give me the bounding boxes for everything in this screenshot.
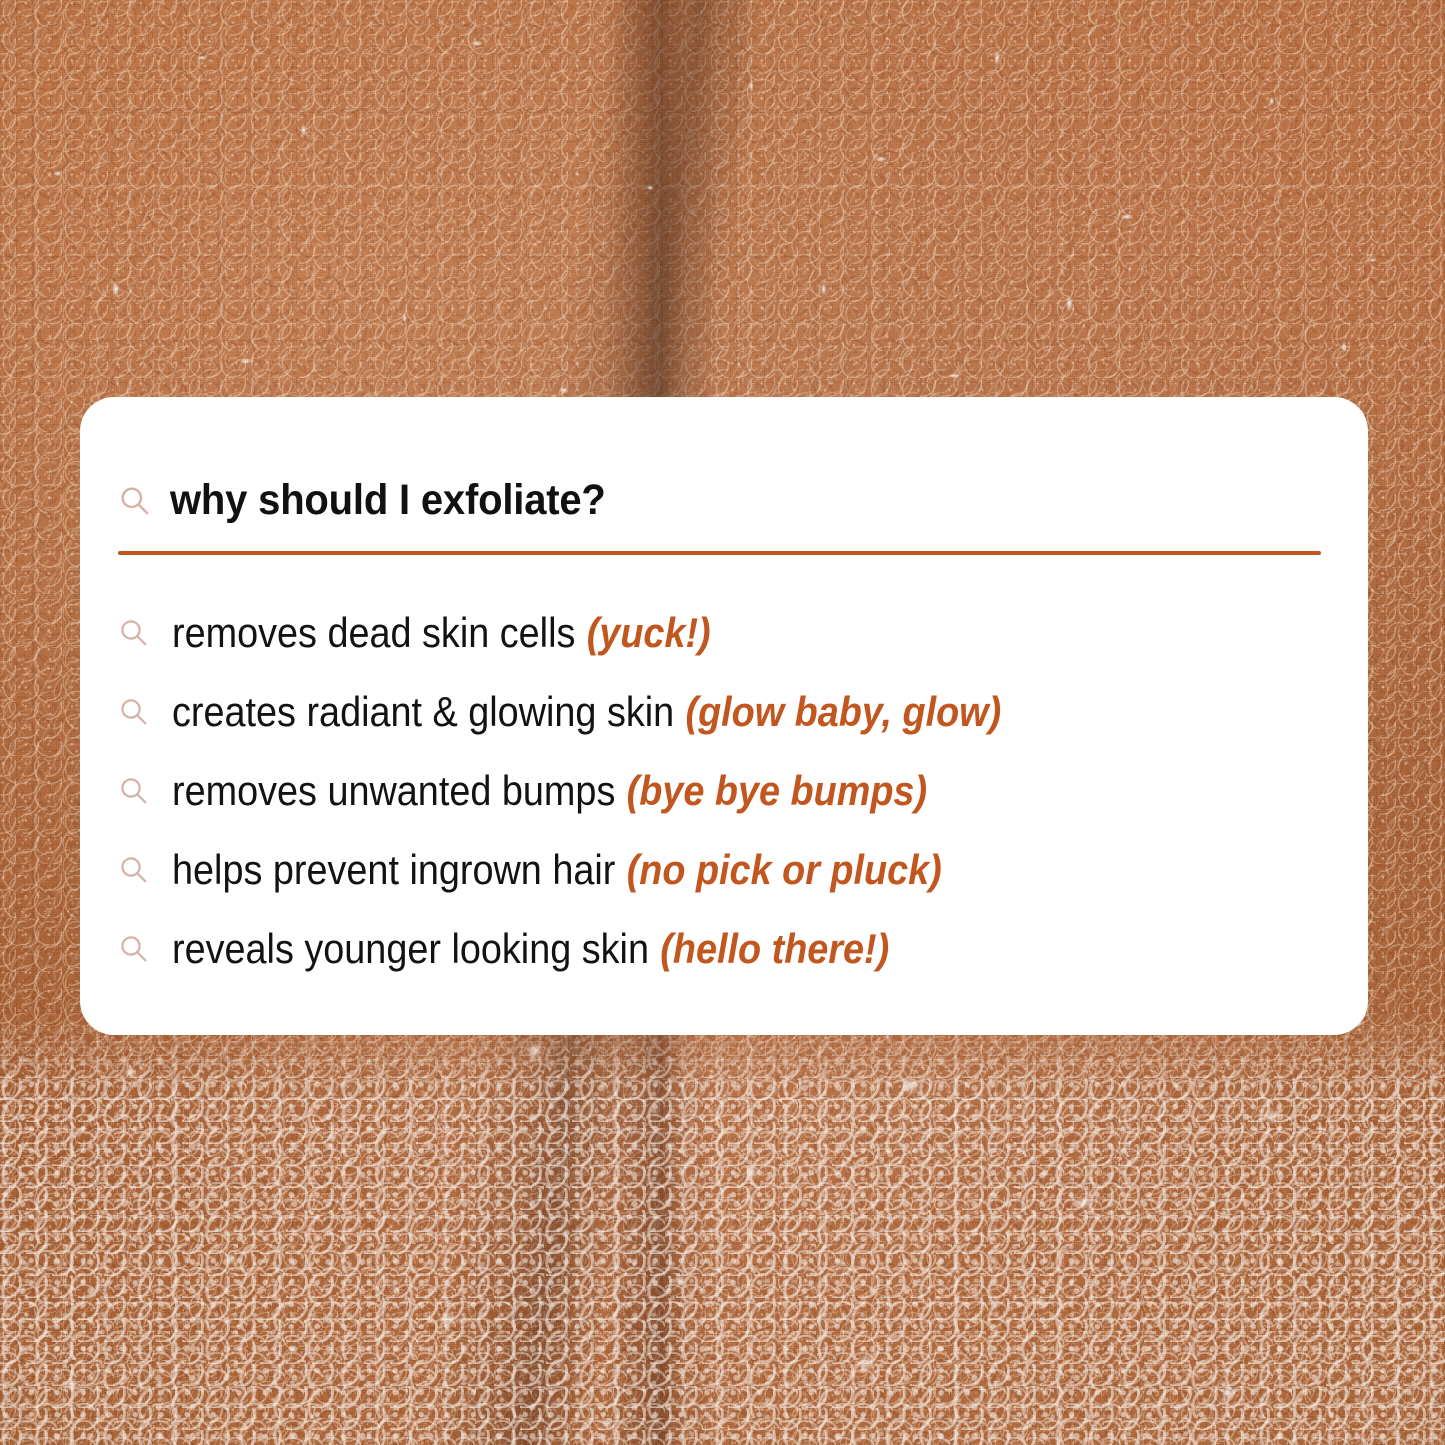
list-item: helps prevent ingrown hair(no pick or pl… (118, 830, 1330, 909)
skin-wet-sheen (0, 1012, 1445, 1445)
benefit-aside-text: (no pick or pluck) (627, 846, 942, 893)
info-card-content: why should I exfoliate? removes dead ski… (118, 397, 1330, 1035)
search-icon (118, 775, 150, 807)
list-item: reveals younger looking skin(hello there… (118, 909, 1330, 988)
list-item: creates radiant & glowing skin(glow baby… (118, 672, 1330, 751)
benefit-main-text: helps prevent ingrown hair (172, 846, 615, 893)
benefit-line: removes unwanted bumps(bye bye bumps) (172, 770, 927, 812)
benefit-list: removes dead skin cells(yuck!) creates r… (118, 593, 1330, 988)
list-item: removes unwanted bumps(bye bye bumps) (118, 751, 1330, 830)
benefit-aside-text: (glow baby, glow) (686, 688, 1002, 735)
benefit-main-text: creates radiant & glowing skin (172, 688, 674, 735)
search-icon (118, 854, 150, 886)
search-icon (118, 696, 150, 728)
benefit-main-text: removes unwanted bumps (172, 767, 615, 814)
card-header: why should I exfoliate? (118, 479, 638, 522)
benefit-aside-text: (hello there!) (660, 925, 889, 972)
water-droplets (0, 1012, 1445, 1445)
search-icon (118, 484, 152, 518)
benefit-line: reveals younger looking skin(hello there… (172, 928, 889, 970)
benefit-line: creates radiant & glowing skin(glow baby… (172, 691, 1001, 733)
search-icon (118, 933, 150, 965)
title-divider (118, 551, 1321, 555)
benefit-aside-text: (bye bye bumps) (627, 767, 927, 814)
page-title: why should I exfoliate? (170, 479, 606, 522)
search-icon (118, 617, 150, 649)
benefit-main-text: removes dead skin cells (172, 609, 575, 656)
benefit-line: helps prevent ingrown hair(no pick or pl… (172, 849, 942, 891)
benefit-aside-text: (yuck!) (587, 609, 711, 656)
product-infographic: why should I exfoliate? removes dead ski… (0, 0, 1445, 1445)
info-card: why should I exfoliate? removes dead ski… (80, 397, 1368, 1035)
benefit-line: removes dead skin cells(yuck!) (172, 612, 711, 654)
benefit-main-text: reveals younger looking skin (172, 925, 649, 972)
list-item: removes dead skin cells(yuck!) (118, 593, 1330, 672)
